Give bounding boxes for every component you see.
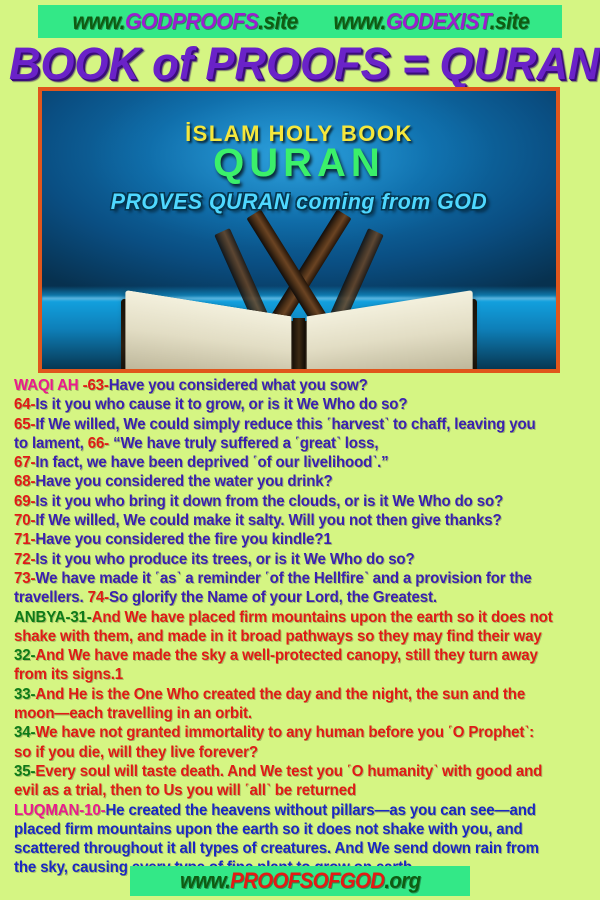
link-proofsofgod-name: PROOFSOFGOD: [230, 868, 384, 893]
link-godexist-name: GODEXIST: [386, 8, 490, 34]
verse-segment: 70-: [14, 512, 35, 529]
link-godexist[interactable]: www.GODEXIST.site: [333, 8, 529, 35]
verse-segment: 64-: [14, 396, 35, 413]
verse-segment: We have not granted immortality to any h…: [35, 724, 534, 741]
verse-line: 32-And We have made the sky a well-prote…: [14, 646, 583, 665]
open-book-icon: [129, 304, 469, 373]
verse-segment: LUQMAN-10-: [14, 802, 105, 819]
verse-line: from its signs.1: [14, 665, 583, 684]
verse-segment: 72-: [14, 551, 35, 568]
verse-segment: placed firm mountains upon the earth so …: [14, 821, 523, 838]
link-godproofs-name: GODPROOFS: [125, 8, 258, 34]
link-godexist-www: www.: [333, 8, 385, 34]
rehal-stand-icon: [134, 209, 464, 349]
verse-line: 35-Every soul will taste death. And We t…: [14, 762, 583, 781]
verse-line: 33-And He is the One Who created the day…: [14, 685, 583, 704]
top-url-banner: www.GODPROOFS.site www.GODEXIST.site: [38, 5, 562, 38]
verse-segment: And He is the One Who created the day an…: [35, 686, 525, 703]
verse-segment: 66-: [88, 435, 109, 452]
verse-segment: 35-: [14, 763, 35, 780]
quran-hero-image: İSLAM HOLY BOOK QURAN PROVES QURAN comin…: [38, 87, 560, 373]
bottom-url-banner: www.PROOFSOFGOD.org: [130, 866, 470, 896]
verse-segment: Have you considered what you sow?: [109, 377, 368, 394]
verse-segment: WAQI AH: [14, 377, 83, 394]
verse-segment: Have you considered the water you drink?: [35, 473, 332, 490]
verse-segment: 73-: [14, 570, 35, 587]
verse-segment: Is it you who bring it down from the clo…: [35, 493, 503, 510]
verse-segment: evil as a trial, then to Us you will ˹al…: [14, 782, 356, 799]
verse-segment: And We have made the sky a well-protecte…: [35, 647, 537, 664]
link-godproofs-www: www.: [72, 8, 124, 34]
verse-segment: 68-: [14, 473, 35, 490]
verse-segment: moon—each travelling in an orbit.: [14, 705, 252, 722]
verse-line: moon—each travelling in an orbit.: [14, 704, 583, 723]
book-page-left: [125, 290, 291, 373]
verse-segment: 33-: [14, 686, 35, 703]
verse-segment: If We willed, We could simply reduce thi…: [35, 416, 535, 433]
verse-line: placed firm mountains upon the earth so …: [14, 820, 583, 839]
verse-line: shake with them, and made in it broad pa…: [14, 627, 583, 646]
book-page-right: [307, 290, 473, 373]
verse-segment: 34-: [14, 724, 35, 741]
verse-segment: -63-: [83, 377, 109, 394]
verse-segment: Have you considered the fire you kindle?…: [35, 531, 331, 548]
verse-line: 68-Have you considered the water you dri…: [14, 472, 583, 491]
verse-segment: ANBYA-31-: [14, 609, 92, 626]
page-title: BOOK of PROOFS = QURAN: [9, 38, 591, 90]
verse-segment: He created the heavens without pillars—a…: [105, 802, 535, 819]
link-godexist-tld: .site: [489, 8, 529, 34]
link-proofsofgod-www: www.: [180, 868, 230, 893]
link-godproofs[interactable]: www.GODPROOFS.site: [72, 8, 297, 35]
verse-segment: shake with them, and made in it broad pa…: [14, 628, 542, 645]
verse-line: 64-Is it you who cause it to grow, or is…: [14, 395, 583, 414]
verse-line: WAQI AH -63-Have you considered what you…: [14, 376, 583, 395]
verse-segment: Every soul will taste death. And We test…: [35, 763, 542, 780]
verse-line: LUQMAN-10-He created the heavens without…: [14, 801, 583, 820]
verse-segment: Is it you who cause it to grow, or is it…: [35, 396, 407, 413]
verse-segment: 65-: [14, 416, 35, 433]
book-spine: [293, 318, 305, 373]
verse-segment: Is it you who produce its trees, or is i…: [35, 551, 414, 568]
verse-segment: “We have truly suffered a ˹great˺ loss,: [109, 435, 378, 452]
verse-segment: 32-: [14, 647, 35, 664]
verse-segment: to lament,: [14, 435, 88, 452]
link-proofsofgod[interactable]: www.PROOFSOFGOD.org: [180, 868, 420, 894]
verse-segment: 67-: [14, 454, 35, 471]
verse-segment: If We willed, We could make it salty. Wi…: [35, 512, 501, 529]
verse-line: 72-Is it you who produce its trees, or i…: [14, 550, 583, 569]
verse-line: evil as a trial, then to Us you will ˹al…: [14, 781, 583, 800]
verse-line: 73-We have made it ˹as˺ a reminder ˹of t…: [14, 569, 583, 588]
verse-line: scattered throughout it all types of cre…: [14, 839, 583, 858]
verse-segment: We have made it ˹as˺ a reminder ˹of the …: [35, 570, 531, 587]
verse-segment: And We have placed firm mountains upon t…: [92, 609, 553, 626]
verse-segment: In fact, we have been deprived ˹of our l…: [35, 454, 388, 471]
verse-segment: 74-: [88, 589, 109, 606]
hero-caption-quran: QURAN: [42, 141, 556, 186]
verse-segment: 69-: [14, 493, 35, 510]
verse-line: to lament, 66- “We have truly suffered a…: [14, 434, 583, 453]
verse-segment: so if you die, will they live forever?: [14, 744, 258, 761]
verse-line: 71-Have you considered the fire you kind…: [14, 530, 583, 549]
verse-segment: travellers.: [14, 589, 88, 606]
verse-segment: from its signs.1: [14, 666, 123, 683]
verse-line: travellers. 74-So glorify the Name of yo…: [14, 588, 583, 607]
verse-segment: 71-: [14, 531, 35, 548]
verse-line: so if you die, will they live forever?: [14, 743, 583, 762]
hero-caption-proves: PROVES QURAN coming from GOD: [50, 189, 549, 215]
verse-line: 65-If We willed, We could simply reduce …: [14, 415, 583, 434]
verse-line: 67-In fact, we have been deprived ˹of ou…: [14, 453, 583, 472]
verse-line: 34-We have not granted immortality to an…: [14, 723, 583, 742]
link-godproofs-tld: .site: [258, 8, 298, 34]
verse-line: 69-Is it you who bring it down from the …: [14, 492, 583, 511]
verse-segment: scattered throughout it all types of cre…: [14, 840, 539, 857]
verse-line: 70-If We willed, We could make it salty.…: [14, 511, 583, 530]
verse-line: ANBYA-31-And We have placed firm mountai…: [14, 608, 583, 627]
verse-text-block: WAQI AH -63-Have you considered what you…: [14, 376, 592, 878]
verse-segment: So glorify the Name of your Lord, the Gr…: [109, 589, 437, 606]
link-proofsofgod-tld: .org: [384, 868, 420, 893]
